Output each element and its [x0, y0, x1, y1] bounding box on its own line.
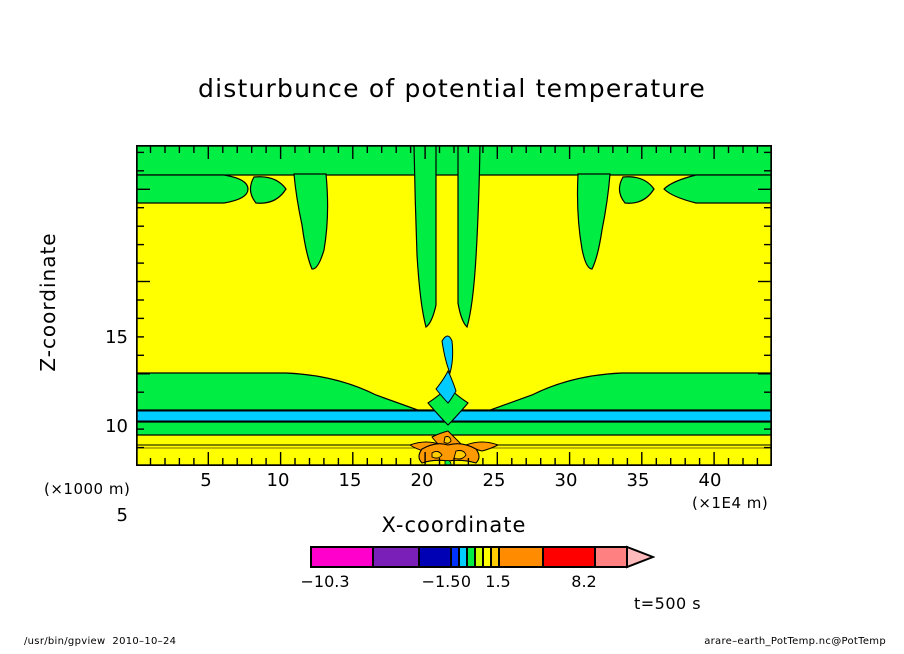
- y-axis-title: Z-coordinate: [36, 202, 60, 402]
- x-axis-unit-label: (×1E4 m): [692, 494, 768, 512]
- x-tick-label: 35: [616, 470, 660, 491]
- x-tick-label: 5: [184, 470, 228, 491]
- x-tick-label: 25: [472, 470, 516, 491]
- colorbar-swatch: [595, 547, 627, 567]
- colorbar-swatch: [311, 547, 373, 567]
- contour-region-warm-cell-top: [444, 437, 451, 444]
- colorbar-swatch: [419, 547, 451, 567]
- contour-region-warm-core: [419, 444, 479, 463]
- x-tick-label: 10: [256, 470, 300, 491]
- footer-command-info: /usr/bin/gpview 2010–10–24: [24, 636, 176, 647]
- colorbar-tick-label: 0: [456, 572, 476, 591]
- colorbar-swatch: [543, 547, 595, 567]
- contour-band-green-lower-layer: [136, 422, 772, 435]
- x-tick-label: 20: [400, 470, 444, 491]
- y-axis-unit-label: (×1000 m): [44, 480, 130, 498]
- y-tick-label: 5: [88, 505, 128, 526]
- colorbar-swatch: [499, 547, 543, 567]
- colorbar-swatch: [451, 547, 459, 567]
- colorbar-swatch: [373, 547, 419, 567]
- colorbar-swatch: [491, 547, 499, 567]
- contour-field: [136, 145, 772, 466]
- colorbar-swatch: [459, 547, 467, 567]
- colorbar-swatch: [475, 547, 483, 567]
- y-tick-label: 10: [88, 416, 128, 437]
- colorbar-swatch: [483, 547, 491, 567]
- y-tick-label: 15: [88, 327, 128, 348]
- colorbar-tick-label: 1.5: [476, 572, 520, 591]
- y-axis-tick-labels: 15 10 5: [76, 145, 128, 466]
- page-title: disturbunce of potential temperature: [0, 74, 904, 103]
- colorbar-overflow-arrow: [627, 547, 653, 567]
- colorbar-tick-label: −10.3: [285, 572, 365, 591]
- colorbar-swatch: [467, 547, 475, 567]
- colorbar[interactable]: [310, 545, 640, 569]
- colorbar-tick-label: 8.2: [562, 572, 606, 591]
- footer-source-file: arare–earth_PotTemp.nc@PotTemp: [704, 636, 886, 647]
- x-tick-label: 40: [688, 470, 732, 491]
- x-axis-title: X-coordinate: [136, 513, 772, 537]
- x-axis-tick-labels: 5 10 15 20 25 30 35 40: [136, 470, 772, 496]
- x-tick-label: 15: [328, 470, 372, 491]
- colorbar-swatches: [310, 545, 655, 569]
- contour-region-cold-left-tongue: [136, 175, 248, 203]
- contour-plot-area[interactable]: [136, 145, 772, 466]
- x-tick-label: 30: [544, 470, 588, 491]
- contour-region-cold-right-tongue: [664, 175, 772, 203]
- gpview-plot-window: disturbunce of potential temperature Z-c…: [0, 0, 904, 654]
- time-annotation: t=500 s: [634, 594, 701, 613]
